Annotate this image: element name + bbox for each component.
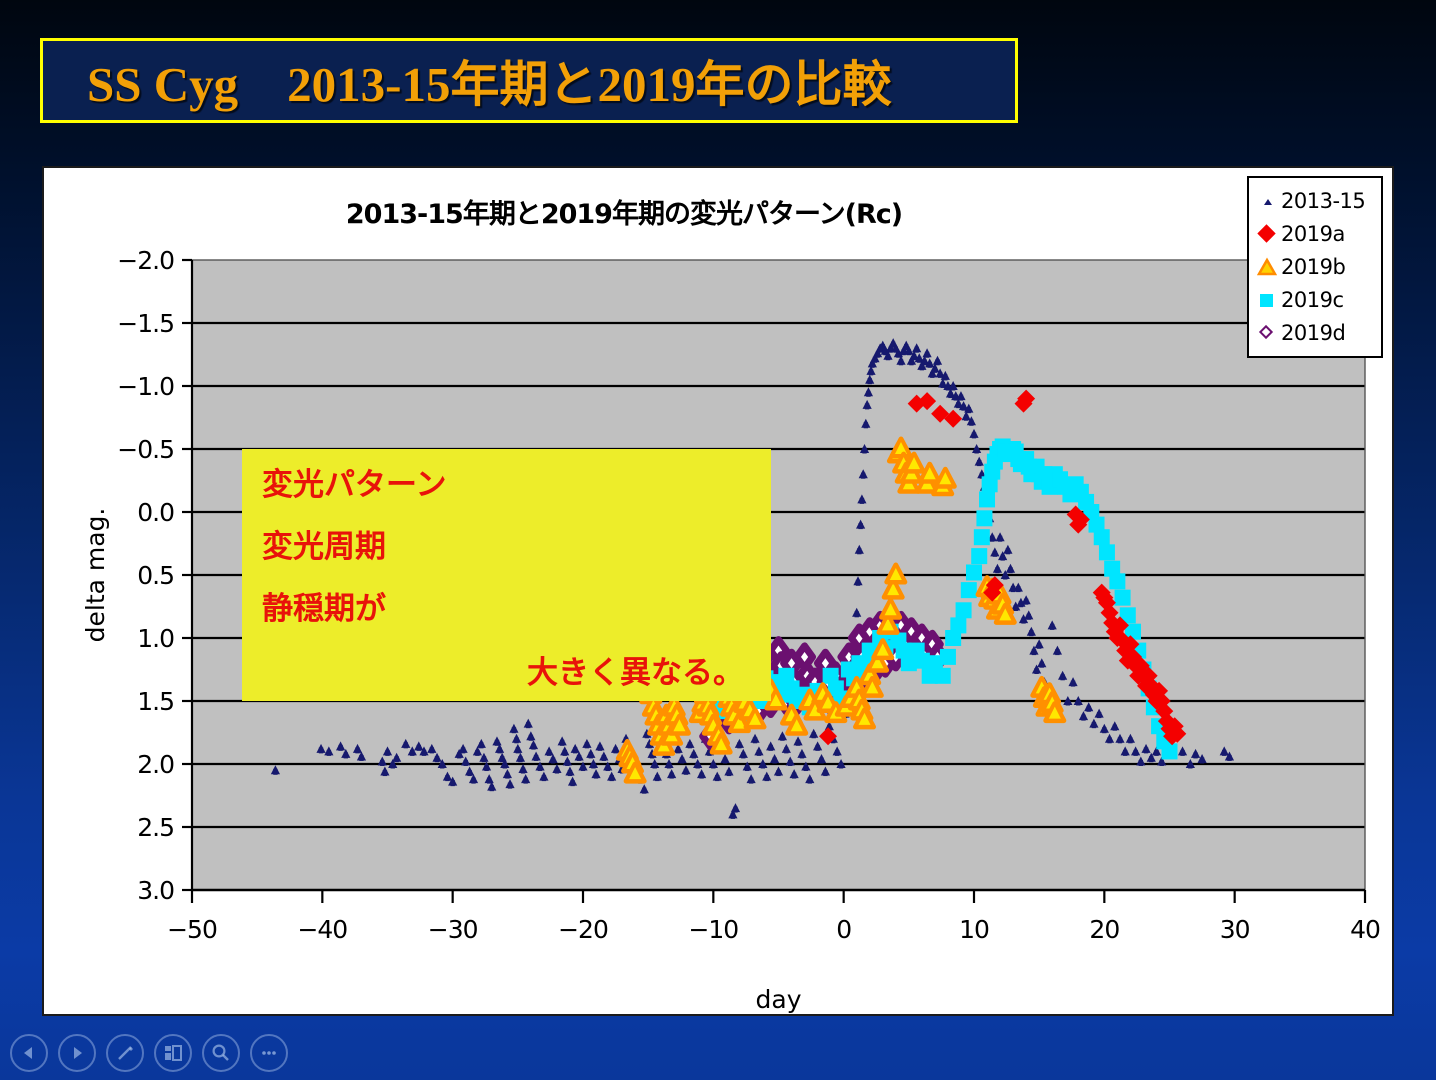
svg-text:day: day <box>756 985 802 1014</box>
svg-text:−1.0: −1.0 <box>117 372 174 401</box>
presentation-toolbar <box>10 1034 288 1072</box>
svg-text:0: 0 <box>836 915 851 944</box>
svg-text:−10: −10 <box>688 915 738 944</box>
legend-label: 2019a <box>1281 222 1345 246</box>
svg-text:−50: −50 <box>167 915 217 944</box>
open-diamond-marker-icon <box>1257 323 1277 343</box>
chart-legend: 2013-15 2019a 2019b 2019c 2019d <box>1247 176 1383 358</box>
svg-text:10: 10 <box>959 915 989 944</box>
svg-text:−0.5: −0.5 <box>117 435 174 464</box>
svg-text:3.0: 3.0 <box>137 876 174 905</box>
legend-item-2019c: 2019c <box>1257 283 1375 316</box>
legend-label: 2019d <box>1281 321 1345 345</box>
callout-line-2: 変光周期 <box>262 521 386 566</box>
page-title: SS Cyg 2013-15年期と2019年の比較 <box>87 45 891 116</box>
svg-text:1.5: 1.5 <box>137 687 174 716</box>
slide-overview-button[interactable] <box>154 1034 192 1072</box>
diamond-marker-icon <box>1257 224 1277 244</box>
legend-item-2013-15: 2013-15 <box>1257 184 1375 217</box>
svg-text:−30: −30 <box>428 915 478 944</box>
slide-title-banner: SS Cyg 2013-15年期と2019年の比較 <box>40 38 1018 123</box>
svg-text:1.0: 1.0 <box>137 624 174 653</box>
svg-text:20: 20 <box>1089 915 1119 944</box>
legend-label: 2019c <box>1281 288 1344 312</box>
svg-text:0.5: 0.5 <box>137 561 174 590</box>
svg-text:−1.5: −1.5 <box>117 309 174 338</box>
pen-tool-button[interactable] <box>106 1034 144 1072</box>
svg-text:−2.0: −2.0 <box>117 246 174 275</box>
callout-line-1: 変光パターン <box>262 459 446 504</box>
square-marker-icon <box>1257 290 1277 310</box>
legend-item-2019d: 2019d <box>1257 316 1375 349</box>
svg-text:−40: −40 <box>297 915 347 944</box>
svg-text:30: 30 <box>1220 915 1250 944</box>
more-options-button[interactable] <box>250 1034 288 1072</box>
svg-text:delta mag.: delta mag. <box>81 508 110 643</box>
previous-slide-button[interactable] <box>10 1034 48 1072</box>
svg-text:2.5: 2.5 <box>137 813 174 842</box>
legend-item-2019a: 2019a <box>1257 217 1375 250</box>
triangle-small-marker-icon <box>1257 191 1277 211</box>
presentation-slide: SS Cyg 2013-15年期と2019年の比較 2013-15年期と2019… <box>0 0 1436 1080</box>
svg-text:0.0: 0.0 <box>137 498 174 527</box>
annotation-callout: 変光パターン 変光周期 静穏期が 大きく異なる。 <box>242 449 771 701</box>
triangle-marker-icon <box>1257 257 1277 277</box>
next-slide-button[interactable] <box>58 1034 96 1072</box>
callout-line-3: 静穏期が <box>262 583 386 628</box>
chart-container: 2013-15年期と2019年期の変光パターン(Rc) −2.0−1.5−1.0… <box>42 166 1394 1016</box>
svg-text:−20: −20 <box>558 915 608 944</box>
svg-text:2.0: 2.0 <box>137 750 174 779</box>
legend-item-2019b: 2019b <box>1257 250 1375 283</box>
zoom-tool-button[interactable] <box>202 1034 240 1072</box>
svg-text:40: 40 <box>1350 915 1380 944</box>
legend-label: 2019b <box>1281 255 1345 279</box>
legend-label: 2013-15 <box>1281 189 1365 213</box>
callout-line-4: 大きく異なる。 <box>527 647 744 692</box>
